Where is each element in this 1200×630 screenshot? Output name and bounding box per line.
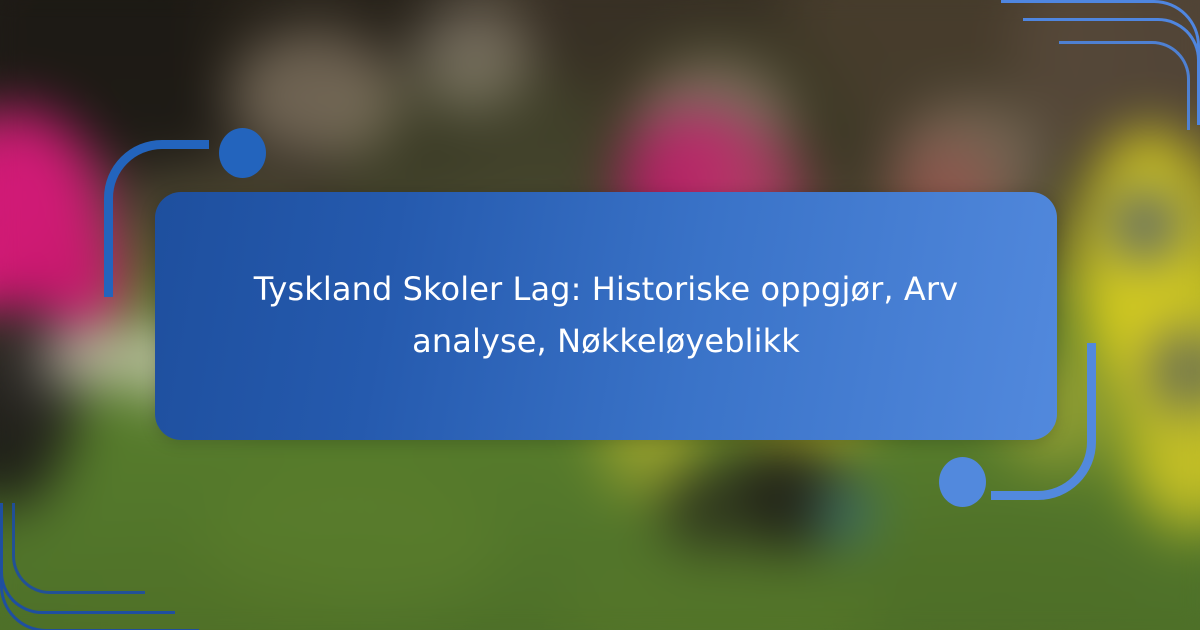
corner-line-inner — [12, 503, 145, 594]
dot-bottom-right — [939, 457, 986, 507]
corner-lines-bottom-left — [0, 476, 230, 630]
corner-lines-top-right — [1000, 0, 1200, 146]
page-title: Tyskland Skoler Lag: Historiske oppgjør,… — [226, 264, 986, 368]
corner-line-inner — [1059, 41, 1190, 130]
dot-top-left — [219, 128, 266, 178]
share-card-canvas: Tyskland Skoler Lag: Historiske oppgjør,… — [0, 0, 1200, 630]
title-card: Tyskland Skoler Lag: Historiske oppgjør,… — [155, 192, 1057, 440]
